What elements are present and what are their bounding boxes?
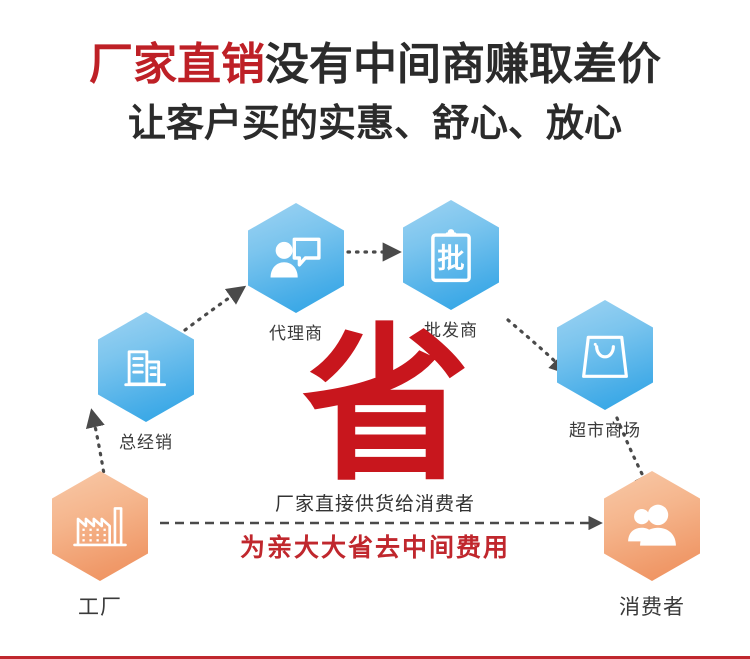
hexagon-supermarket — [557, 300, 653, 410]
hexagon-agent — [248, 203, 344, 313]
shopping-bag-icon — [579, 328, 631, 382]
promo-poster: 厂家直销没有中间商赚取差价 让客户买的实惠、舒心、放心 — [0, 0, 750, 659]
headline-accent: 厂家直销 — [89, 40, 265, 89]
hexagon-consumer — [604, 471, 700, 581]
node-label-consumer: 消费者 — [619, 591, 685, 621]
savings-note: 为亲大大省去中间费用 — [0, 528, 750, 564]
hexagon-general-distributor — [98, 312, 194, 422]
node-label-factory: 工厂 — [78, 591, 122, 621]
hexagon-factory — [52, 471, 148, 581]
node-label-supermarket: 超市商场 — [569, 416, 641, 441]
connector-distributor-to-agent — [185, 288, 243, 330]
office-buildings-icon — [119, 340, 173, 394]
connector-factory-to-distributor — [92, 412, 105, 480]
person-speech-bubble-icon — [268, 232, 324, 284]
page-title: 厂家直销没有中间商赚取差价 — [0, 42, 750, 88]
savings-stamp-character: 省 — [302, 312, 470, 482]
savings-stamp: 省 — [296, 312, 476, 482]
node-label-general-distributor: 总经销 — [119, 428, 173, 453]
clipboard-pi-icon: 批 — [425, 226, 477, 284]
svg-text:批: 批 — [437, 244, 464, 275]
headline-plain: 没有中间商赚取差价 — [265, 40, 661, 89]
hexagon-wholesaler: 批 — [403, 200, 499, 310]
page-subtitle: 让客户买的实惠、舒心、放心 — [0, 104, 750, 146]
supply-note: 厂家直接供货给消费者 — [0, 489, 750, 516]
